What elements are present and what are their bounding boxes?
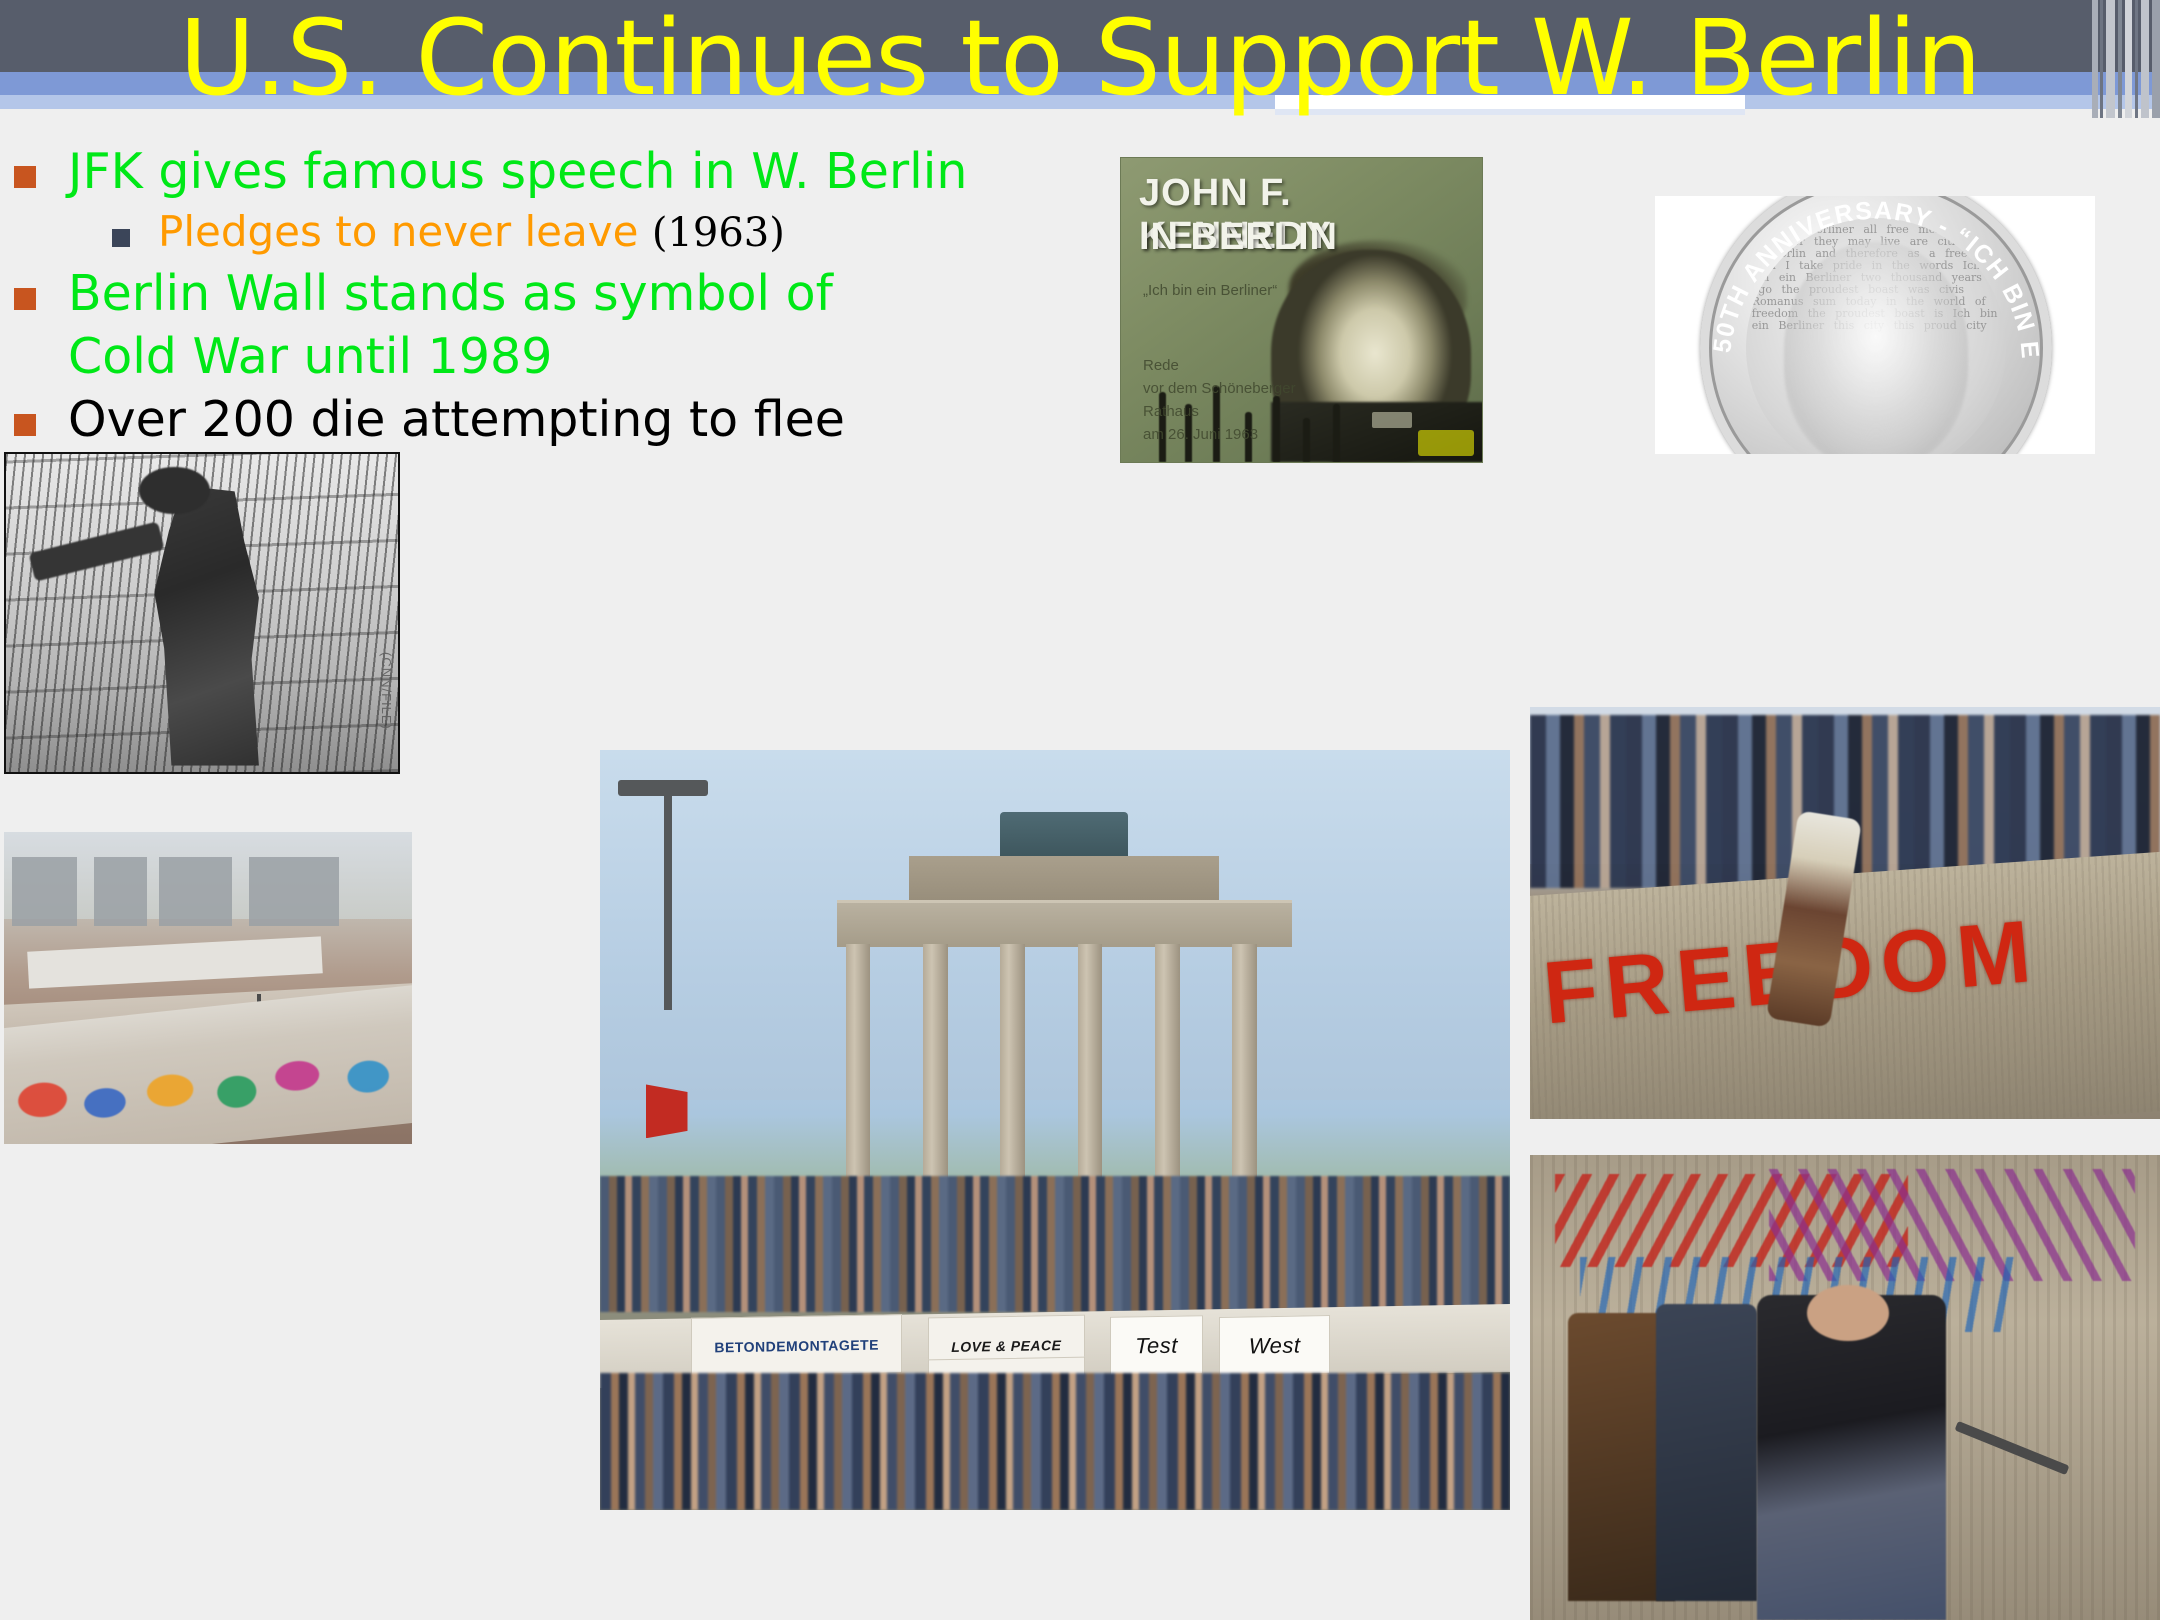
coin-disc: I am a Berliner all free men wherever th…: [1700, 196, 2052, 454]
gate-crowd-foreground: [600, 1373, 1510, 1510]
gate-flag: [646, 1084, 688, 1138]
image-death-strip: [4, 832, 412, 1144]
bullet-list: JFK gives famous speech in W. Berlin Ple…: [0, 140, 1140, 451]
gate-column: [846, 944, 871, 1185]
jfk-credit-line-3: Rathaus: [1143, 400, 1296, 423]
gate-column: [1078, 944, 1103, 1185]
chip-bystander: [1656, 1304, 1757, 1602]
gate-column: [1232, 944, 1257, 1185]
gate-column: [923, 944, 948, 1185]
protest-banner: Test: [1110, 1315, 1203, 1376]
escapee-body: [147, 486, 269, 766]
image-brandenburg-gate: BETONDEMONTAGETE LOVE & PEACE WEST & EAS…: [600, 750, 1510, 1510]
list-item: JFK gives famous speech in W. Berlin: [0, 140, 1140, 203]
gate-entablature: [837, 900, 1292, 947]
image-commemorative-coin: I am a Berliner all free men wherever th…: [1655, 196, 2095, 454]
gate-attic: [909, 856, 1218, 903]
photo-watermark: (CNN/FILE): [379, 652, 394, 730]
coin-rim-text-path: 50TH ANNIVERSARY - “ICH BIN EIN BERLINER…: [1700, 196, 2044, 361]
jfk-cover-credits: Rede vor dem Schöneberger Rathaus am 26.…: [1143, 354, 1296, 446]
protest-banner: West: [1219, 1315, 1330, 1376]
quadriga-statue: [1000, 812, 1127, 859]
image-chipping-wall: [1530, 1155, 2160, 1620]
jfk-cover-quote: „Ich bin ein Berliner“: [1143, 282, 1277, 299]
bullet-square-icon: [14, 166, 36, 188]
cover-corner-label: [1418, 430, 1474, 456]
bullet-square-icon: [14, 414, 36, 436]
bullet-text-4: Over 200 die attempting to flee: [68, 388, 845, 451]
strip-building: [12, 857, 77, 926]
cover-small-label: [1372, 412, 1412, 428]
list-item: Over 200 die attempting to flee: [0, 388, 1140, 451]
list-item: Pledges to never leave (1963): [0, 203, 1140, 262]
gate-lamp-post: [664, 780, 672, 1010]
sub-bullet-square-icon: [112, 229, 130, 247]
chip-wall-pecker-head: [1807, 1285, 1889, 1341]
image-freedom-wall: FREEDOM: [1530, 707, 2160, 1119]
gate-column: [1155, 944, 1180, 1185]
protest-banner: BETONDEMONTAGETE: [691, 1314, 902, 1377]
image-barbed-wire-escape: (CNN/FILE): [4, 452, 400, 774]
escapee-arm: [28, 521, 164, 581]
jfk-credit-line-2: vor dem Schöneberger: [1143, 377, 1296, 400]
coin-rim-text: 50TH ANNIVERSARY - “ICH BIN EIN BERLINER…: [1700, 196, 2052, 454]
gate-crowd-on-wall: [600, 1176, 1510, 1313]
gate-column: [1000, 944, 1025, 1185]
jfk-cover-headline-2: IN BERLIN: [1139, 216, 1338, 259]
strip-building: [94, 857, 147, 926]
strip-building: [249, 857, 339, 926]
bullet-text-2-main: Pledges to never leave: [158, 207, 638, 256]
slide-canvas: U.S. Continues to Support W. Berlin JFK …: [0, 0, 2160, 1620]
slide-title: U.S. Continues to Support W. Berlin: [0, 6, 2160, 110]
bullet-text-1: JFK gives famous speech in W. Berlin: [68, 140, 967, 203]
bullet-text-3-continuation: Cold War until 1989: [68, 325, 1140, 388]
bullet-text-2-year: (1963): [652, 210, 785, 256]
escapee-head: [139, 467, 210, 515]
bullet-text-2: Pledges to never leave (1963): [158, 203, 785, 262]
list-item: Berlin Wall stands as symbol of: [0, 262, 1140, 325]
bullet-text-3: Berlin Wall stands as symbol of: [68, 262, 833, 325]
image-jfk-record-cover: JOHN F. KENNEDY IN BERLIN „Ich bin ein B…: [1120, 157, 1483, 463]
strip-building: [159, 857, 232, 926]
chip-wall-pecker-body: [1757, 1295, 1946, 1620]
jfk-credit-line-1: Rede: [1143, 354, 1296, 377]
jfk-credit-line-4: am 26. Juni 1963: [1143, 423, 1296, 446]
bullet-text-3-wrap: Berlin Wall stands as symbol of: [68, 262, 833, 325]
gate-structure: [837, 849, 1292, 1214]
svg-text:50TH ANNIVERSARY - “ICH BIN EI: 50TH ANNIVERSARY - “ICH BIN EIN BERLINER…: [1700, 196, 2044, 361]
bullet-square-icon: [14, 288, 36, 310]
strip-far-wall: [28, 937, 323, 990]
